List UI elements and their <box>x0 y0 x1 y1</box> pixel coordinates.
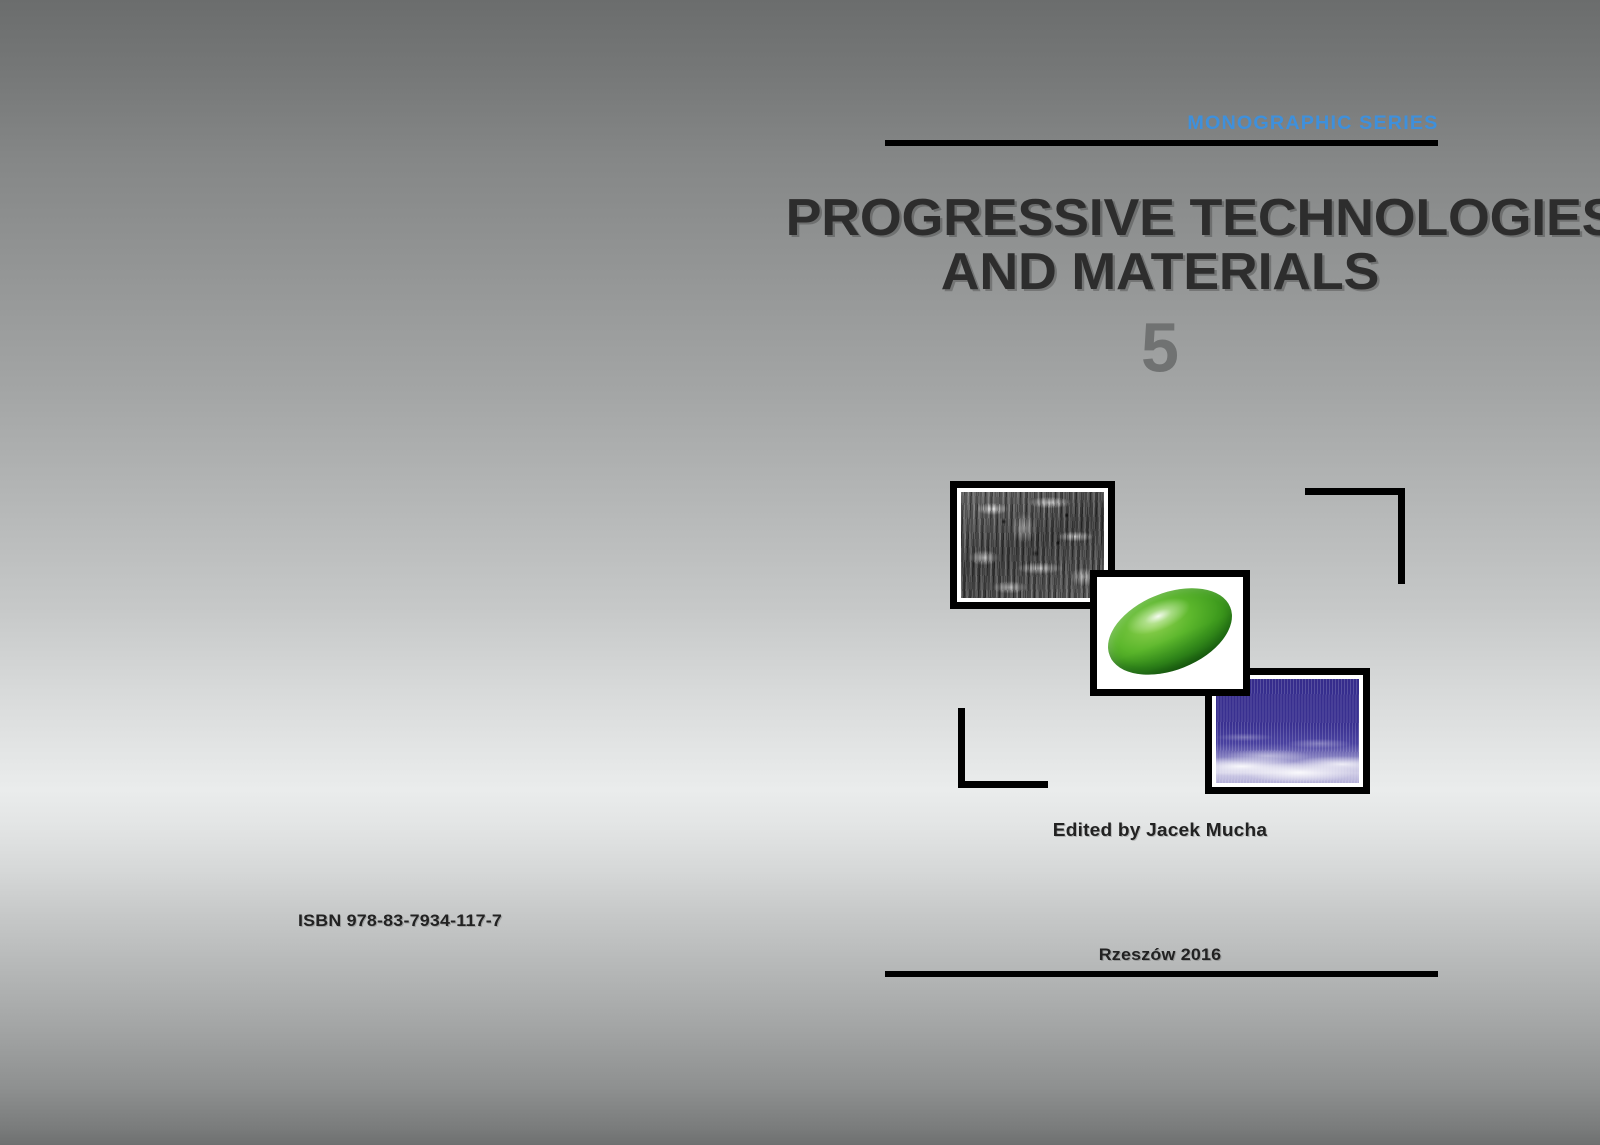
bracket-arm-vertical <box>1398 488 1405 584</box>
page-title: PROGRESSIVE TECHNOLOGIES AND MATERIALS <box>840 190 1480 298</box>
front-cover-panel: MONOGRAPHIC SERIES PROGRESSIVE TECHNOLOG… <box>800 0 1600 1145</box>
micrograph-texture <box>961 492 1104 598</box>
image-plate <box>961 492 1104 598</box>
book-cover-spread: ISBN 978-83-7934-117-7 MONOGRAPHIC SERIE… <box>0 0 1600 1145</box>
corner-bracket-top-right-icon <box>1305 488 1405 584</box>
series-kicker-text: MONOGRAPHIC SERIES <box>1187 113 1438 135</box>
isbn-text: ISBN 978-83-7934-117-7 <box>0 911 820 931</box>
place-year-text: Rzeszów 2016 <box>824 945 1496 965</box>
bottom-divider-rule <box>885 971 1438 977</box>
top-divider-rule <box>885 140 1438 146</box>
ellipsoid-shading <box>1101 581 1239 685</box>
back-cover-panel: ISBN 978-83-7934-117-7 <box>0 0 800 1145</box>
title-line-1: PROGRESSIVE TECHNOLOGIES <box>786 187 1535 247</box>
bracket-arm-vertical <box>958 708 965 788</box>
editor-credit-text: Edited by Jacek Mucha <box>821 820 1499 841</box>
bracket-arm-horizontal <box>958 781 1048 788</box>
bracket-arm-horizontal <box>1305 488 1405 495</box>
green-ellipsoid-image <box>1090 570 1250 696</box>
corner-bracket-bottom-left-icon <box>958 708 1048 788</box>
title-line-2: AND MATERIALS <box>786 241 1535 301</box>
image-plate <box>1101 581 1239 685</box>
volume-number: 5 <box>808 310 1512 388</box>
